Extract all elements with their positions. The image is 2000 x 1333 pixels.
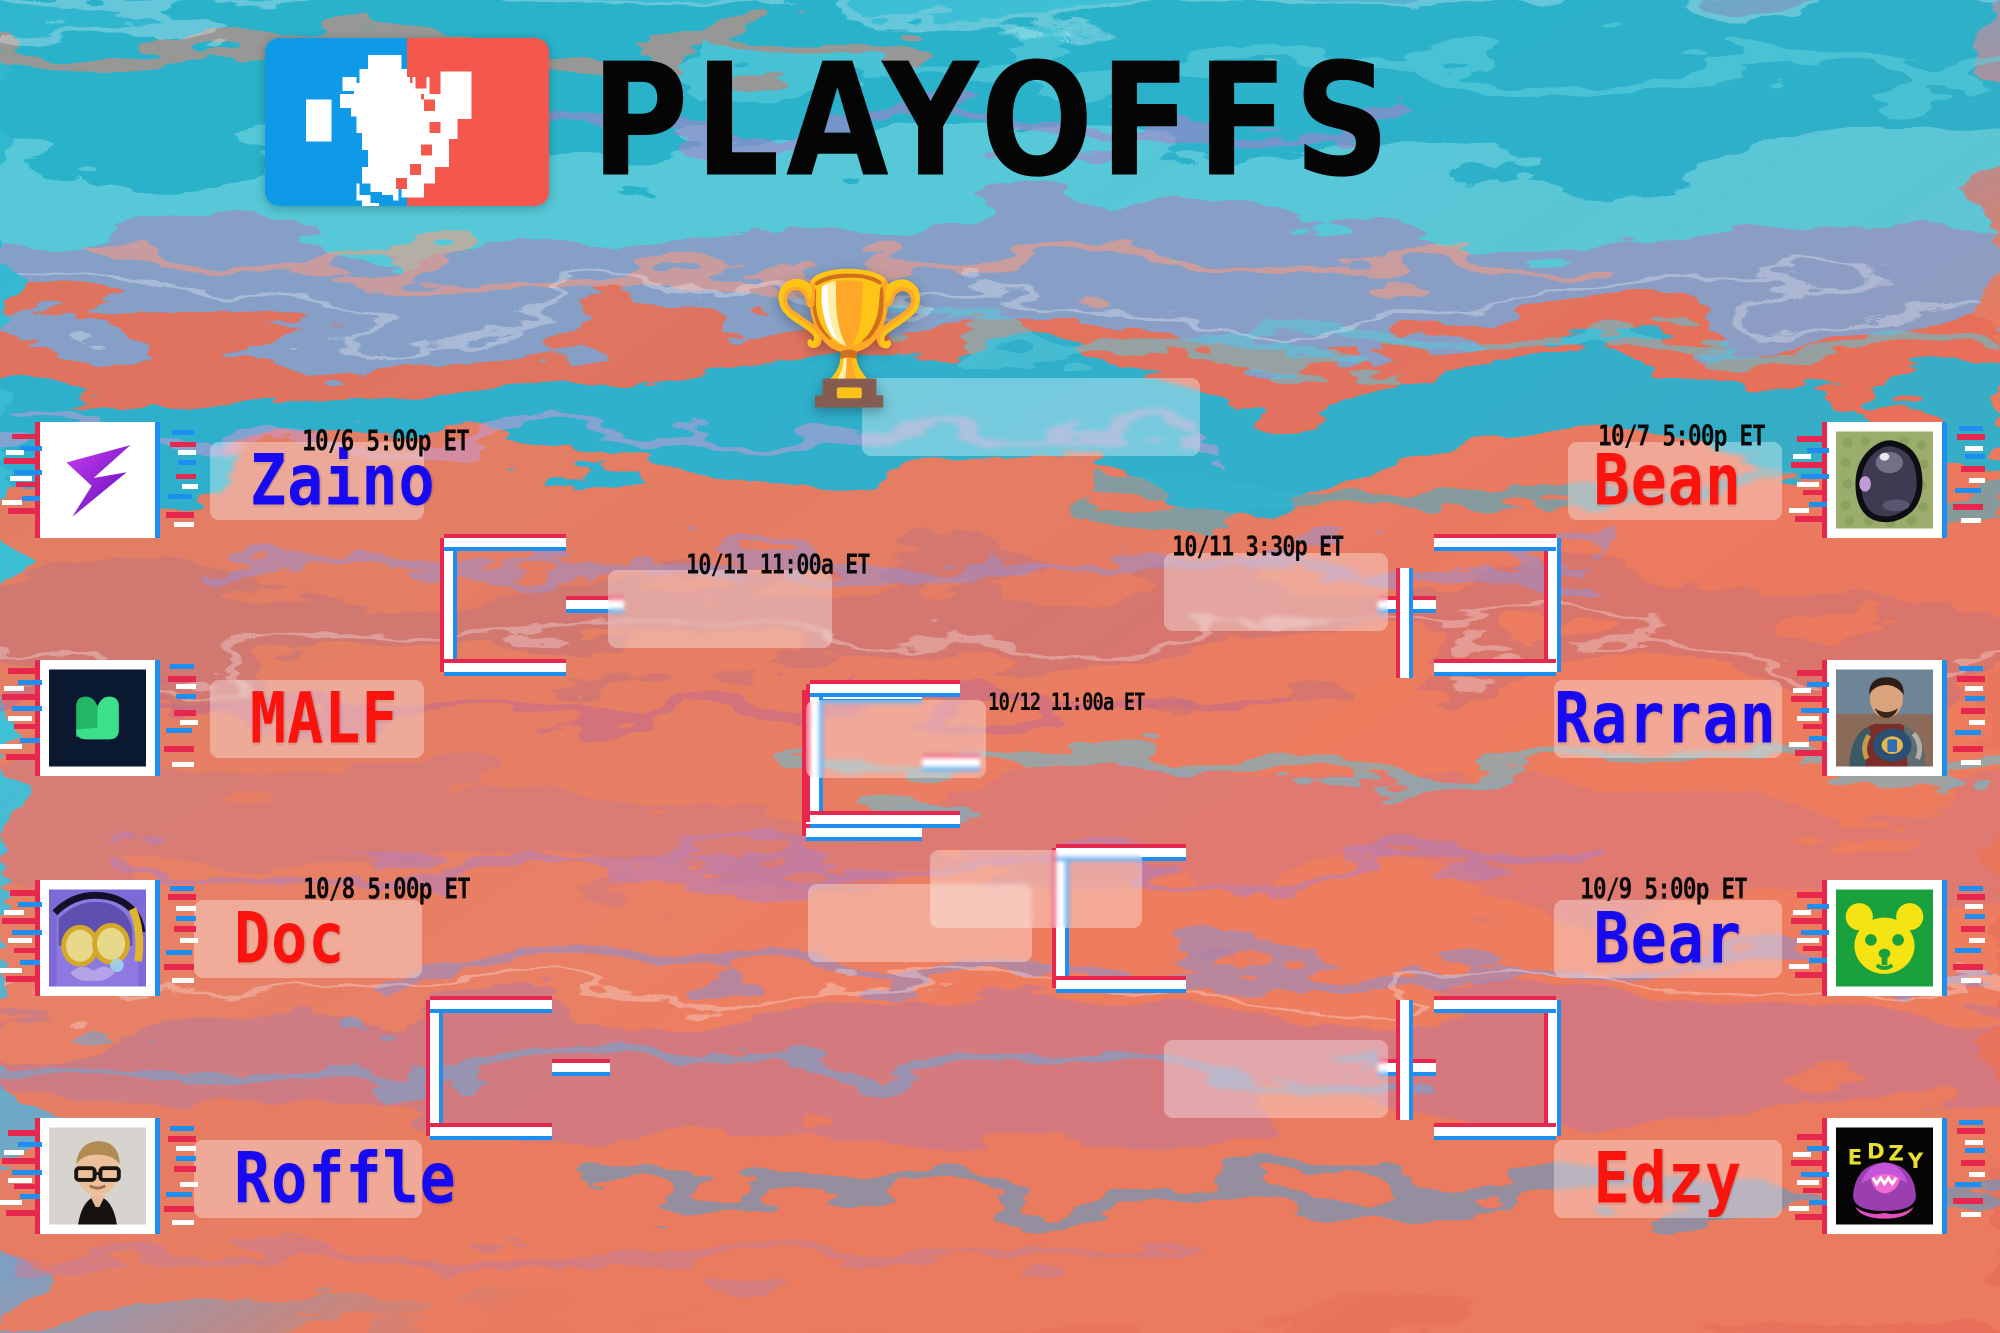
mlb-pixel-batter-logo	[265, 38, 549, 206]
match-date-sf1: 10/11 11:00a ET	[686, 550, 870, 581]
connector-qf3-vertical	[1548, 538, 1557, 672]
player-slot-malf[interactable]: MALF	[210, 680, 424, 758]
player-name-bear: Bear	[1594, 904, 1743, 975]
semifinal-slot-right-top[interactable]	[1164, 553, 1388, 631]
avatar-bear[interactable]	[1827, 880, 1942, 996]
page-title: PLAYOFFS	[591, 44, 1396, 200]
match-date-qf4: 10/9 5:00p ET	[1580, 874, 1747, 907]
svg-text:D: D	[1867, 1140, 1885, 1165]
connector-final-left-bottom	[810, 815, 960, 824]
semifinal-slot-left-top[interactable]	[608, 570, 832, 648]
player-name-rarran: Rarran	[1554, 684, 1777, 755]
svg-text:Z: Z	[1888, 1141, 1903, 1166]
final-slot-left[interactable]	[806, 700, 986, 778]
avatar-zaino[interactable]	[40, 422, 155, 538]
player-name-bean: Bean	[1594, 446, 1743, 517]
player-slot-bean[interactable]: Bean	[1568, 442, 1782, 520]
player-name-roffle: Roffle	[234, 1144, 457, 1215]
avatar-roffle[interactable]	[40, 1118, 155, 1234]
page-header: PLAYOFFS	[265, 38, 1365, 206]
avatar-rarran[interactable]	[1827, 660, 1942, 776]
svg-text:Y: Y	[1907, 1149, 1924, 1174]
avatar-doc[interactable]	[40, 880, 155, 996]
connector-qf1-bottom	[444, 663, 566, 672]
avatar-bean[interactable]	[1827, 422, 1942, 538]
semifinal-slot-right-bottom[interactable]	[1164, 1040, 1388, 1118]
connector-qf4-vertical	[1548, 1000, 1557, 1136]
connector-qf4-bottom	[1434, 1127, 1556, 1136]
connector-sf2-vertical-bottom	[1400, 1000, 1409, 1120]
match-date-final: 10/12 11:00a ET	[988, 689, 1145, 717]
player-slot-roffle[interactable]: Roffle	[194, 1140, 422, 1218]
connector-qf4-top	[1434, 1000, 1556, 1009]
avatar-edzy[interactable]: E D Z Y	[1827, 1118, 1942, 1234]
player-name-edzy: Edzy	[1594, 1144, 1743, 1215]
connector-qf2-out	[552, 1063, 610, 1072]
connector-sf2-vertical-top	[1400, 568, 1409, 678]
connector-qf1-vertical	[444, 538, 453, 672]
connector-qf1-top	[444, 538, 566, 547]
connector-qf2-top	[430, 1000, 552, 1009]
player-name-malf: MALF	[250, 684, 399, 755]
match-date-qf1: 10/6 5:00p ET	[302, 426, 469, 459]
connector-final-right-bottom	[1056, 980, 1186, 989]
player-slot-doc[interactable]: Doc	[194, 900, 422, 978]
connector-final-left-top	[810, 684, 960, 693]
avatar-malf[interactable]	[40, 660, 155, 776]
svg-text:E: E	[1848, 1145, 1863, 1170]
match-date-qf2: 10/8 5:00p ET	[303, 874, 470, 907]
player-slot-edzy[interactable]: Edzy	[1554, 1140, 1782, 1218]
match-date-qf3: 10/7 5:00p ET	[1598, 421, 1765, 454]
player-slot-bear[interactable]: Bear	[1554, 900, 1782, 978]
connector-qf3-top	[1434, 538, 1556, 547]
connector-sf1-bottom	[806, 828, 922, 837]
player-slot-rarran[interactable]: Rarran	[1554, 680, 1782, 758]
final-slot-right[interactable]	[930, 850, 1142, 928]
player-name-doc: Doc	[234, 904, 345, 975]
connector-qf3-bottom	[1434, 663, 1556, 672]
connector-qf2-bottom	[430, 1127, 552, 1136]
match-date-sf2: 10/11 3:30p ET	[1172, 532, 1343, 563]
connector-qf2-vertical	[430, 1000, 439, 1136]
trophy-icon: 🏆	[770, 275, 929, 403]
